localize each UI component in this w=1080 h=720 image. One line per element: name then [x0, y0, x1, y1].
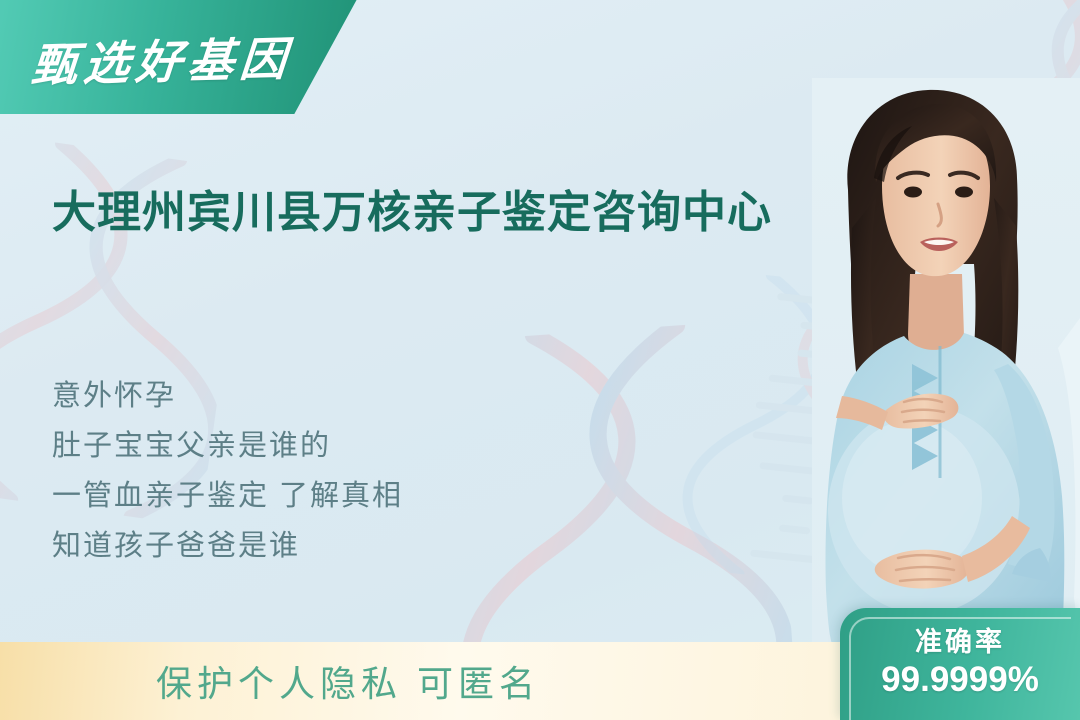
- privacy-bar: 保护个人隐私 可匿名: [0, 642, 840, 720]
- accuracy-badge-label: 准确率: [915, 628, 1005, 658]
- brand-logo-text: 甄选好基因: [29, 23, 295, 96]
- poster-canvas: 甄选好基因 大理州宾川县万核亲子鉴定咨询中心 意外怀孕 肚子宝宝父亲是谁的 一管…: [0, 0, 1080, 720]
- privacy-bar-text: 保护个人隐私 可匿名: [156, 655, 540, 707]
- page-title: 大理州宾川县万核亲子鉴定咨询中心: [52, 185, 852, 241]
- brand-logo-banner[interactable]: 甄选好基因: [0, 0, 362, 114]
- marketing-copy: 意外怀孕 肚子宝宝父亲是谁的 一管血亲子鉴定 了解真相 知道孩子爸爸是谁: [52, 372, 572, 572]
- copy-line-3: 一管血亲子鉴定 了解真相: [52, 472, 572, 522]
- accuracy-badge: 准确率 99.9999%: [840, 608, 1080, 720]
- accuracy-badge-value: 99.9999%: [881, 660, 1039, 700]
- copy-line-4: 知道孩子爸爸是谁: [52, 522, 572, 572]
- copy-line-2: 肚子宝宝父亲是谁的: [52, 422, 572, 472]
- copy-line-1: 意外怀孕: [52, 372, 572, 422]
- pregnant-woman-photo: [812, 78, 1080, 644]
